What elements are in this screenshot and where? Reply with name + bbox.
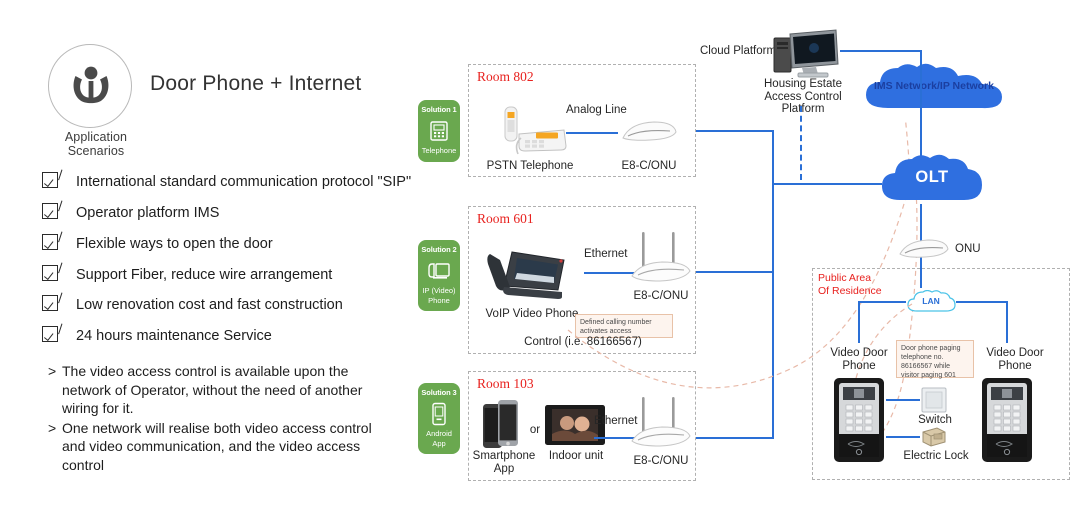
device-caption: Indoor unit	[536, 450, 616, 462]
checkbox-checked-icon	[42, 265, 58, 281]
analog-line-connector	[566, 132, 618, 134]
device-caption: E8-C/ONU	[619, 290, 703, 302]
feature-label: Operator platform IMS	[76, 205, 219, 221]
device-caption: E8-C/ONU	[619, 455, 703, 467]
ip-video-phone-icon	[420, 257, 458, 285]
bus-to-olt-connector	[772, 183, 882, 185]
note-text: One network will realise both video acce…	[62, 419, 388, 475]
feature-item-1: International standard communication pro…	[42, 172, 411, 190]
callout-defined-calling-number: Defined calling number activates access	[575, 314, 673, 338]
device-caption: VoIP Video Phone	[472, 308, 592, 320]
logo-caption: Application Scenarios	[36, 130, 156, 158]
note-text: The video access control is available up…	[62, 362, 388, 418]
electric-lock-icon	[920, 424, 948, 448]
room-title: Room 601	[477, 211, 534, 227]
checkbox-checked-icon	[42, 203, 58, 219]
lan-left-connector	[858, 301, 906, 303]
switch-connector	[886, 399, 920, 401]
checkbox-checked-icon	[42, 295, 58, 311]
solution-number: Solution 2	[420, 245, 458, 255]
smartphone-pair-icon	[481, 398, 525, 450]
solution-badge-telephone[interactable]: Solution 1 Telephone	[418, 100, 460, 162]
link-label-analog: Analog Line	[566, 104, 627, 116]
desk-telephone-icon	[420, 117, 458, 145]
video-door-phone-icon	[982, 378, 1032, 462]
feature-label: 24 hours maintenance Service	[76, 328, 272, 344]
voip-video-phone-icon	[484, 240, 570, 302]
feature-label: Support Fiber, reduce wire arrangement	[76, 267, 332, 283]
public-area-title: Public Area Of Residence	[818, 272, 882, 297]
feature-item-2: Operator platform IMS	[42, 203, 219, 221]
note-marker: >	[48, 419, 62, 475]
person-in-circle-icon	[70, 64, 112, 108]
desktop-server-icon	[772, 28, 842, 80]
onu-router-icon	[628, 397, 694, 451]
device-caption: Smartphone App	[468, 450, 540, 475]
lan-label: LAN	[906, 296, 956, 306]
platform-dashed-link	[800, 106, 802, 180]
feature-item-4: Support Fiber, reduce wire arrangement	[42, 265, 332, 283]
solution-badge-android-app[interactable]: Solution 3 Android App	[418, 383, 460, 454]
solution-number: Solution 3	[420, 388, 458, 398]
electric-lock-label: Electric Lock	[898, 450, 974, 462]
or-label: or	[527, 424, 543, 436]
room-601-footer: Control (i.e. 86166567)	[498, 336, 668, 348]
cloud-platform-label: Cloud Platform	[700, 45, 776, 57]
room-title: Room 802	[477, 69, 534, 85]
ims-network-label: IMS Network/IP Network	[860, 80, 1008, 92]
video-door-phone-label-left: Video Door Phone	[820, 347, 898, 373]
feature-label: Low renovation cost and fast constructio…	[76, 297, 343, 313]
bus-vertical-trunk	[772, 130, 774, 439]
onu-modem-icon	[898, 236, 950, 258]
video-door-phone-icon	[834, 378, 884, 462]
bus-room103-connector	[696, 437, 774, 439]
server-caption: Housing Estate Access Control Platform	[744, 78, 862, 116]
onu-label: ONU	[955, 243, 981, 255]
checkbox-checked-icon	[42, 234, 58, 250]
server-to-ims-connector	[840, 50, 920, 52]
feature-label: Flexible ways to open the door	[76, 236, 273, 252]
note-marker: >	[48, 362, 62, 418]
solution-label: Android App	[420, 429, 458, 448]
solution-badge-ip-video-phone[interactable]: Solution 2 IP (Video) Phone	[418, 240, 460, 311]
callout-door-phone-paging: Door phone paging telephone no. 86166567…	[896, 340, 974, 378]
solution-label: Telephone	[420, 146, 458, 156]
feature-item-5: Low renovation cost and fast constructio…	[42, 295, 343, 313]
solution-label: IP (Video) Phone	[420, 286, 458, 305]
lan-right-connector	[956, 301, 1008, 303]
video-door-phone-label-right: Video Door Phone	[976, 347, 1054, 373]
notes-block: > The video access control is available …	[48, 362, 388, 475]
feature-item-6: 24 hours maintenance Service	[42, 326, 272, 344]
lan-right-drop	[1006, 301, 1008, 343]
bus-room802-connector	[696, 130, 774, 132]
ethernet-connector-601	[584, 272, 634, 274]
olt-label: OLT	[878, 168, 986, 187]
device-caption: E8-C/ONU	[607, 160, 691, 172]
room-title: Room 103	[477, 376, 534, 392]
device-caption: PSTN Telephone	[480, 160, 580, 172]
onu-router-icon	[628, 232, 694, 286]
pstn-telephone-icon	[492, 104, 570, 156]
onu-modem-icon	[620, 118, 678, 142]
electric-lock-connector	[886, 436, 920, 438]
checkbox-checked-icon	[42, 326, 58, 342]
bus-room601-connector	[696, 271, 774, 273]
lan-left-drop	[858, 301, 860, 343]
page-title: Door Phone + Internet	[150, 72, 361, 96]
checkbox-checked-icon	[42, 172, 58, 188]
link-label-ethernet-601: Ethernet	[584, 248, 627, 260]
switch-button-icon	[921, 387, 947, 413]
solution-number: Solution 1	[420, 105, 458, 115]
note-item: > One network will realise both video ac…	[48, 419, 388, 475]
feature-label: International standard communication pro…	[76, 174, 411, 190]
feature-item-3: Flexible ways to open the door	[42, 234, 273, 252]
note-item: > The video access control is available …	[48, 362, 388, 418]
smartphone-icon	[420, 400, 458, 428]
